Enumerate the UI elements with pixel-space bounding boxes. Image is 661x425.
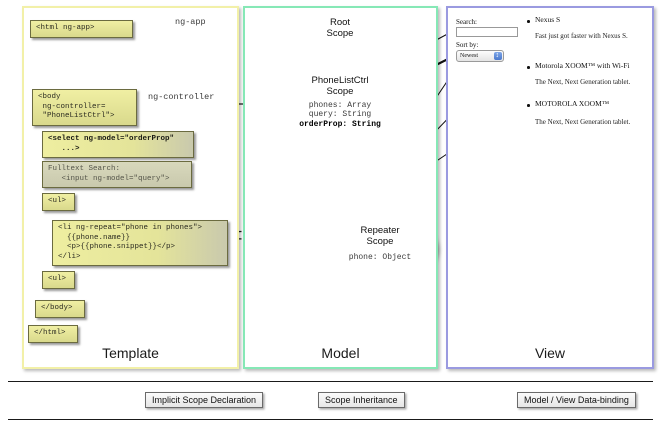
search-label: Search: xyxy=(456,18,477,26)
template-box-body-close: </body> xyxy=(35,300,85,318)
template-box-li-repeat: <li ng-repeat="phone in phones"> {{phone… xyxy=(52,220,228,266)
sort-by-value: Newest xyxy=(460,53,478,59)
edge-label-ng-app: ng-app xyxy=(175,17,206,27)
search-input[interactable] xyxy=(456,27,518,37)
template-box-select-tag: <select ng-model="orderProp" ...> xyxy=(42,131,194,158)
scope-prop-orderprop: orderProp: String xyxy=(275,120,405,129)
repeater-scope-title: Repeater Scope xyxy=(330,225,430,247)
scope-prop-query: query: String xyxy=(275,110,405,119)
phone-snippet: Fast just got faster with Nexus S. xyxy=(535,32,628,40)
chevron-updown-icon xyxy=(494,52,502,60)
template-panel-label: Template xyxy=(24,345,237,361)
root-scope-title: Root Scope xyxy=(300,17,380,39)
legend-item-scope-inheritance: Scope Inheritance xyxy=(318,392,405,408)
repeater-scope-properties: phone: Object xyxy=(325,253,435,262)
legend-item-implicit-scope-declaration: Implicit Scope Declaration xyxy=(145,392,263,408)
template-box-body-tag: <body ng-controller= "PhoneListCtrl"> xyxy=(32,89,137,126)
phone-snippet: The Next, Next Generation tablet. xyxy=(535,118,630,126)
scope-prop-phones: phones: Array xyxy=(275,101,405,110)
model-panel-label: Model xyxy=(245,345,436,361)
bullet-icon xyxy=(527,104,530,107)
model-panel: Model xyxy=(243,6,438,369)
bullet-icon xyxy=(527,20,530,23)
view-panel-label: View xyxy=(448,345,652,361)
phone-name[interactable]: MOTOROLA XOOM™ xyxy=(535,99,609,108)
phone-name[interactable]: Motorola XOOM™ with Wi-Fi xyxy=(535,61,630,70)
legend-item-model-view-data-binding: Model / View Data-binding xyxy=(517,392,636,408)
phone-snippet: The Next, Next Generation tablet. xyxy=(535,78,630,86)
template-box-html-close: </html> xyxy=(28,325,78,343)
angular-scope-diagram: Template <html ng-app> <body ng-controll… xyxy=(0,0,661,425)
template-box-html-tag: <html ng-app> xyxy=(30,20,133,38)
phonelistctrl-scope-title: PhoneListCtrl Scope xyxy=(280,75,400,97)
edge-label-ng-controller: ng-controller xyxy=(148,92,214,102)
phone-name[interactable]: Nexus S xyxy=(535,15,560,24)
bullet-icon xyxy=(527,66,530,69)
scope-prop-phone: phone: Object xyxy=(325,253,435,262)
sort-by-label: Sort by: xyxy=(456,41,478,49)
template-box-ul-open: <ul> xyxy=(42,193,75,211)
phonelistctrl-scope-properties: phones: Array query: String orderProp: S… xyxy=(275,101,405,129)
template-box-ul-close: <ul> xyxy=(42,271,75,289)
template-box-search-tag: Fulltext Search: <input ng-model="query"… xyxy=(42,161,192,188)
legend: Implicit Scope Declaration Scope Inherit… xyxy=(8,381,653,420)
sort-by-select[interactable]: Newest xyxy=(456,50,504,62)
